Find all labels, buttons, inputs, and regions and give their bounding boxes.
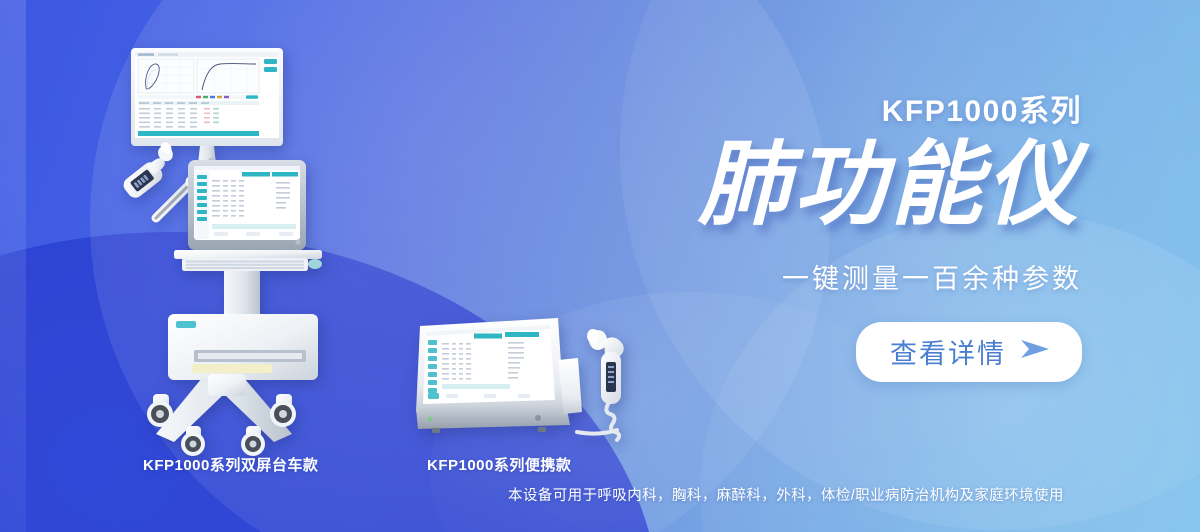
product-banner: KFP1000系列 肺功能仪 一键测量一百余种参数 查看详情 KFP1000系列… — [0, 0, 1200, 532]
view-details-button[interactable]: 查看详情 — [856, 322, 1082, 382]
cart-touchscreen — [188, 160, 306, 250]
cart-keyboard-tray — [174, 250, 322, 271]
caption-portable-model: KFP1000系列便携款 — [427, 454, 571, 475]
arrow-right-icon — [1018, 337, 1052, 366]
subtitle-text: 一键测量一百余种参数 — [522, 257, 1082, 296]
page-title: 肺功能仪 — [522, 136, 1082, 235]
cart-printer-unit — [168, 314, 318, 380]
eyebrow-text: KFP1000系列 — [522, 86, 1082, 130]
view-details-label: 查看详情 — [890, 332, 1006, 371]
banner-copy: KFP1000系列 肺功能仪 一键测量一百余种参数 查看详情 — [522, 86, 1082, 382]
background-left-band — [0, 0, 26, 532]
caption-cart-model: KFP1000系列双屏台车款 — [143, 454, 318, 475]
product-image-cart — [96, 42, 346, 462]
cart-top-monitor — [131, 48, 283, 164]
spirometer-handle — [117, 140, 184, 201]
disclaimer-text: 本设备可用于呼吸内科，胸科，麻醉科，外科，体检/职业病防治机构及家庭环境使用 — [508, 484, 1064, 505]
